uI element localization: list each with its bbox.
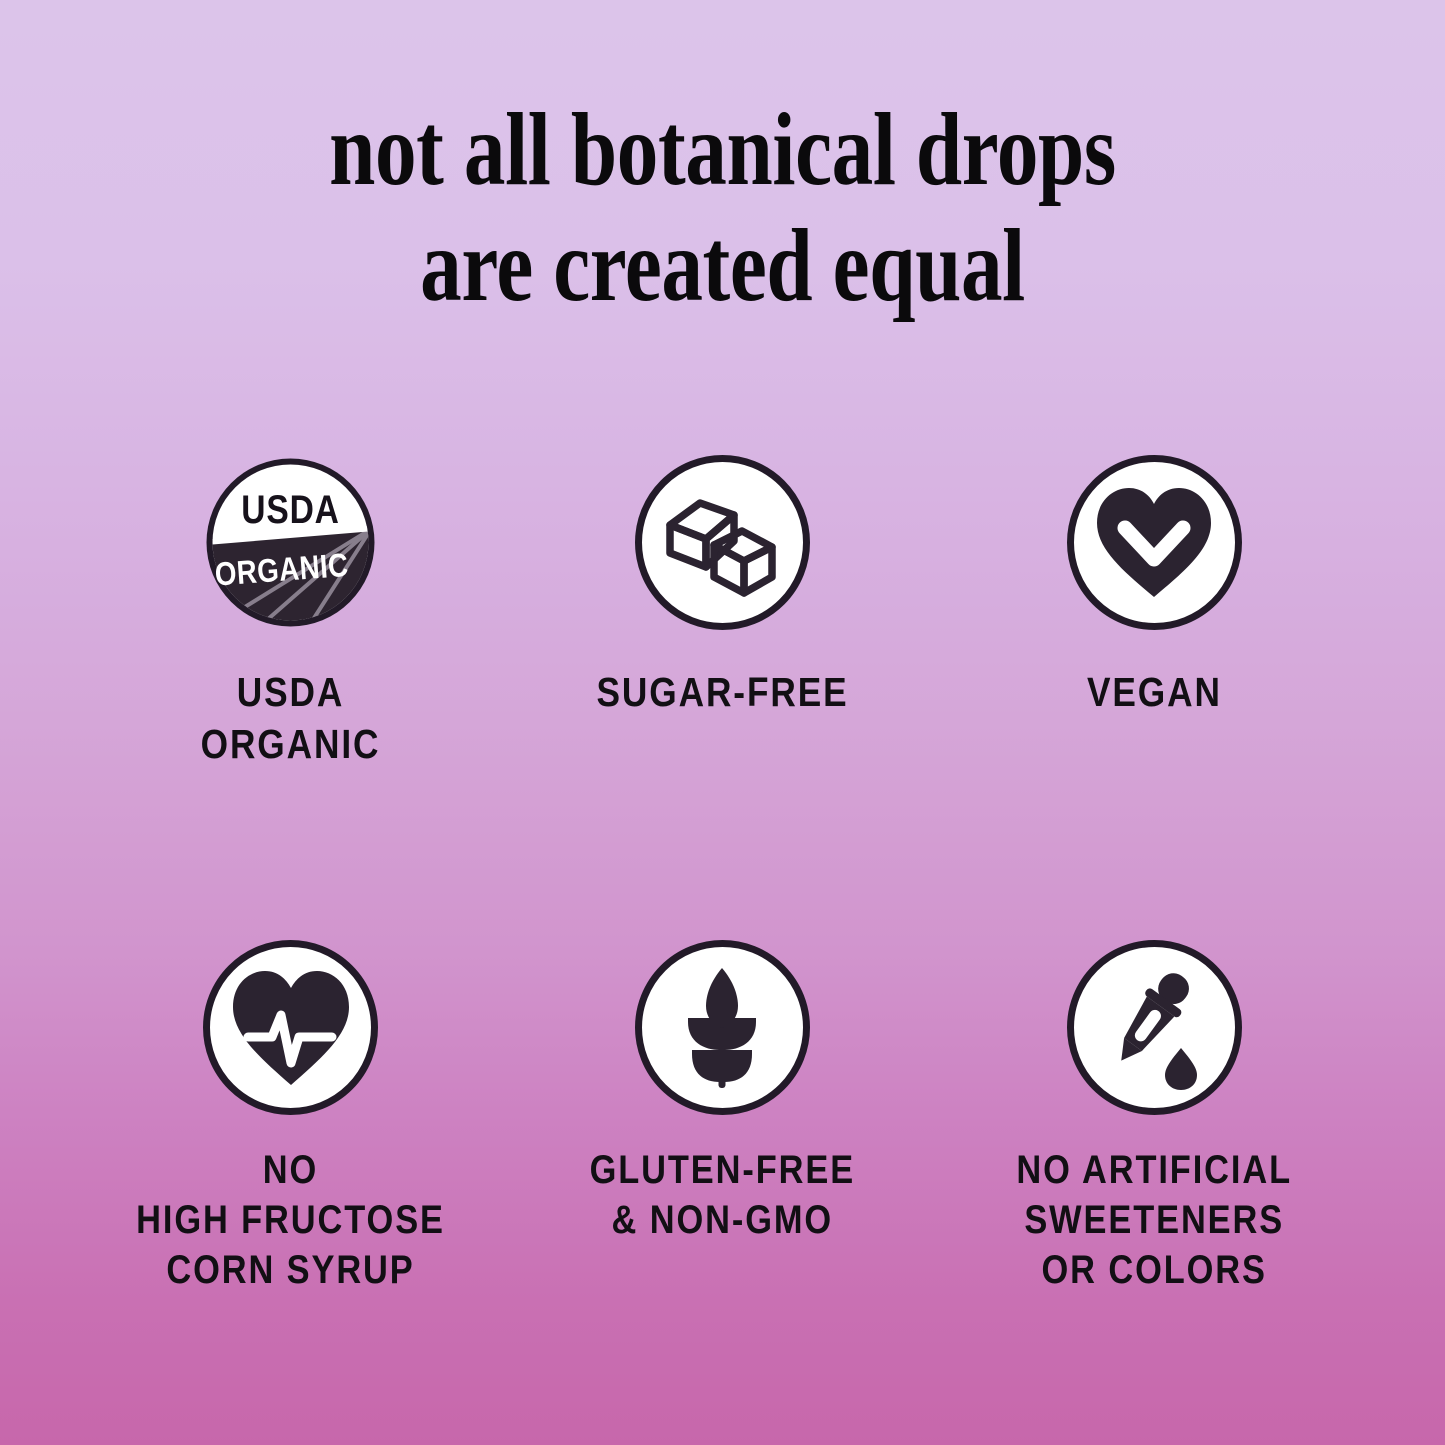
badge-label: VEGAN bbox=[1087, 666, 1222, 718]
sugar-cubes-icon bbox=[635, 455, 810, 630]
dropper-droplet-icon bbox=[1067, 940, 1242, 1115]
usda-organic-seal-icon: USDA ORGANIC bbox=[203, 455, 378, 630]
badge-label: GLUTEN-FREE & NON-GMO bbox=[590, 1145, 855, 1245]
heart-check-icon bbox=[1067, 455, 1242, 630]
svg-text:USDA: USDA bbox=[242, 487, 341, 531]
page-title: not all botanical drops are created equa… bbox=[145, 92, 1301, 324]
product-claims-infographic: not all botanical drops are created equa… bbox=[0, 0, 1445, 1445]
badge-label: SUGAR-FREE bbox=[596, 666, 848, 718]
badge-label: NO HIGH FRUCTOSE CORN SYRUP bbox=[136, 1145, 445, 1295]
badge-label: USDA ORGANIC bbox=[201, 666, 381, 770]
badge-vegan: VEGAN bbox=[938, 455, 1370, 940]
badge-usda-organic: USDA ORGANIC USDA ORGANIC bbox=[75, 455, 507, 940]
badge-gluten-free-non-gmo: GLUTEN-FREE & NON-GMO bbox=[507, 940, 939, 1295]
badge-sugar-free: SUGAR-FREE bbox=[507, 455, 939, 940]
wheat-stalk-icon bbox=[635, 940, 810, 1115]
badge-label: NO ARTIFICIAL SWEETENERS OR COLORS bbox=[1016, 1145, 1292, 1295]
badge-grid: USDA ORGANIC USDA ORGANIC bbox=[75, 455, 1370, 1295]
heart-pulse-icon bbox=[203, 940, 378, 1115]
badge-no-artificial-sweeteners-or-colors: NO ARTIFICIAL SWEETENERS OR COLORS bbox=[938, 940, 1370, 1295]
badge-no-high-fructose-corn-syrup: NO HIGH FRUCTOSE CORN SYRUP bbox=[75, 940, 507, 1295]
